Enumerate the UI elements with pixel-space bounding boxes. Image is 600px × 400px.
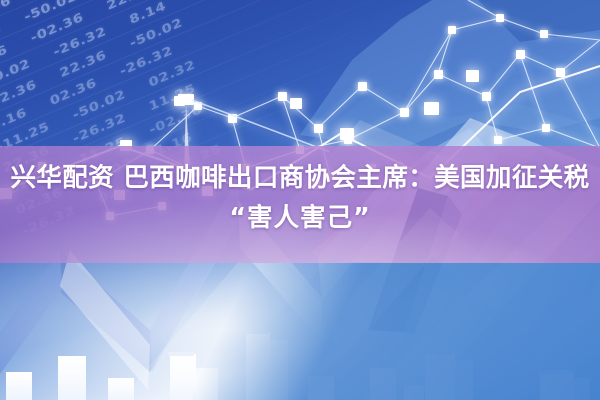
- headline-line-1: 兴华配资 巴西咖啡出口商协会主席：美国加征关税: [6, 158, 594, 198]
- banner-image: -02.36-50.0221.16-50.02-11.2545.02-11.25…: [0, 0, 600, 400]
- headline: 兴华配资 巴西咖啡出口商协会主席：美国加征关税 “害人害己”: [0, 158, 600, 238]
- lower-blue-wash: [0, 263, 600, 400]
- headline-line-2: “害人害己”: [6, 198, 594, 238]
